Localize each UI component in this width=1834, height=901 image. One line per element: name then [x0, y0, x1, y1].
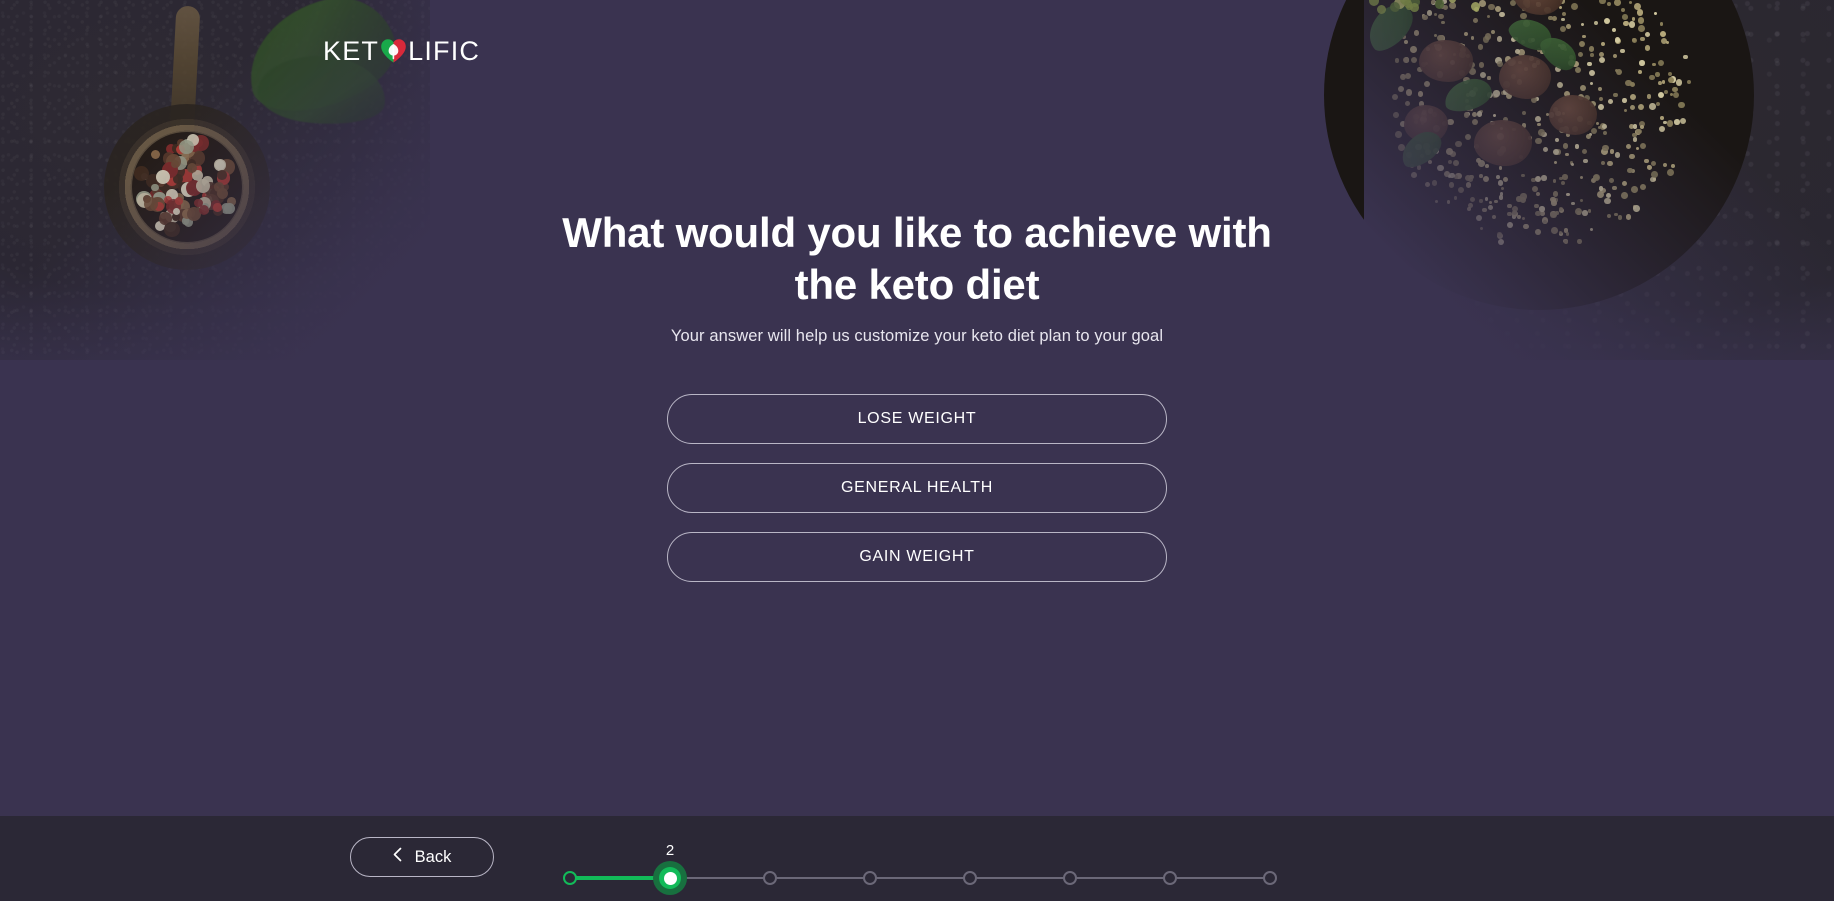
progress-step-1[interactable]: [563, 871, 577, 885]
progress-step-core: [659, 867, 681, 889]
progress-step-dot: [1163, 871, 1177, 885]
progress-step-dot: [1063, 871, 1077, 885]
answer-option-general-health[interactable]: GENERAL HEALTH: [667, 463, 1167, 513]
back-button-label: Back: [415, 848, 452, 867]
progress-step-label: 2: [666, 842, 674, 859]
answer-option-lose-weight[interactable]: LOSE WEIGHT: [667, 394, 1167, 444]
progress-step-3[interactable]: [763, 871, 777, 885]
answer-options-list: LOSE WEIGHT GENERAL HEALTH GAIN WEIGHT: [667, 394, 1167, 582]
peppercorns: [132, 132, 242, 242]
salad-bowl: [1324, 0, 1754, 310]
question-headline: What would you like to achieve with the …: [547, 207, 1287, 311]
progress-step-4[interactable]: [863, 871, 877, 885]
slate-surface-right: [1364, 0, 1834, 360]
jar-rim: [104, 104, 270, 270]
quinoa-salad-photo: [1364, 0, 1834, 360]
progress-step-dot: [1263, 871, 1277, 885]
brand-name-prefix: KET: [323, 38, 379, 65]
quiz-footer: Back 2: [0, 816, 1834, 901]
progress-step-dot: [763, 871, 777, 885]
progress-step-dot: [863, 871, 877, 885]
progress-stepper[interactable]: 2: [570, 816, 1270, 901]
brand-logo[interactable]: KET LIFIC: [323, 36, 480, 66]
progress-step-6[interactable]: [1063, 871, 1077, 885]
answer-option-gain-weight[interactable]: GAIN WEIGHT: [667, 532, 1167, 582]
heart-leaf-icon: [380, 38, 407, 64]
spoon-icon: [170, 5, 201, 138]
progress-step-center: [664, 872, 677, 885]
progress-step-dot: [963, 871, 977, 885]
progress-step-5[interactable]: [963, 871, 977, 885]
question-subhead: Your answer will help us customize your …: [467, 327, 1367, 346]
progress-step-7[interactable]: [1163, 871, 1177, 885]
brand-name-suffix: LIFIC: [408, 38, 480, 65]
chevron-left-icon: [393, 847, 402, 867]
progress-step-8[interactable]: [1263, 871, 1277, 885]
back-button[interactable]: Back: [350, 837, 494, 877]
progress-step-dot: [563, 871, 577, 885]
right-photo-fade: [1364, 0, 1834, 360]
quiz-screen: KET LIFIC What would you like to achieve…: [0, 0, 1834, 901]
